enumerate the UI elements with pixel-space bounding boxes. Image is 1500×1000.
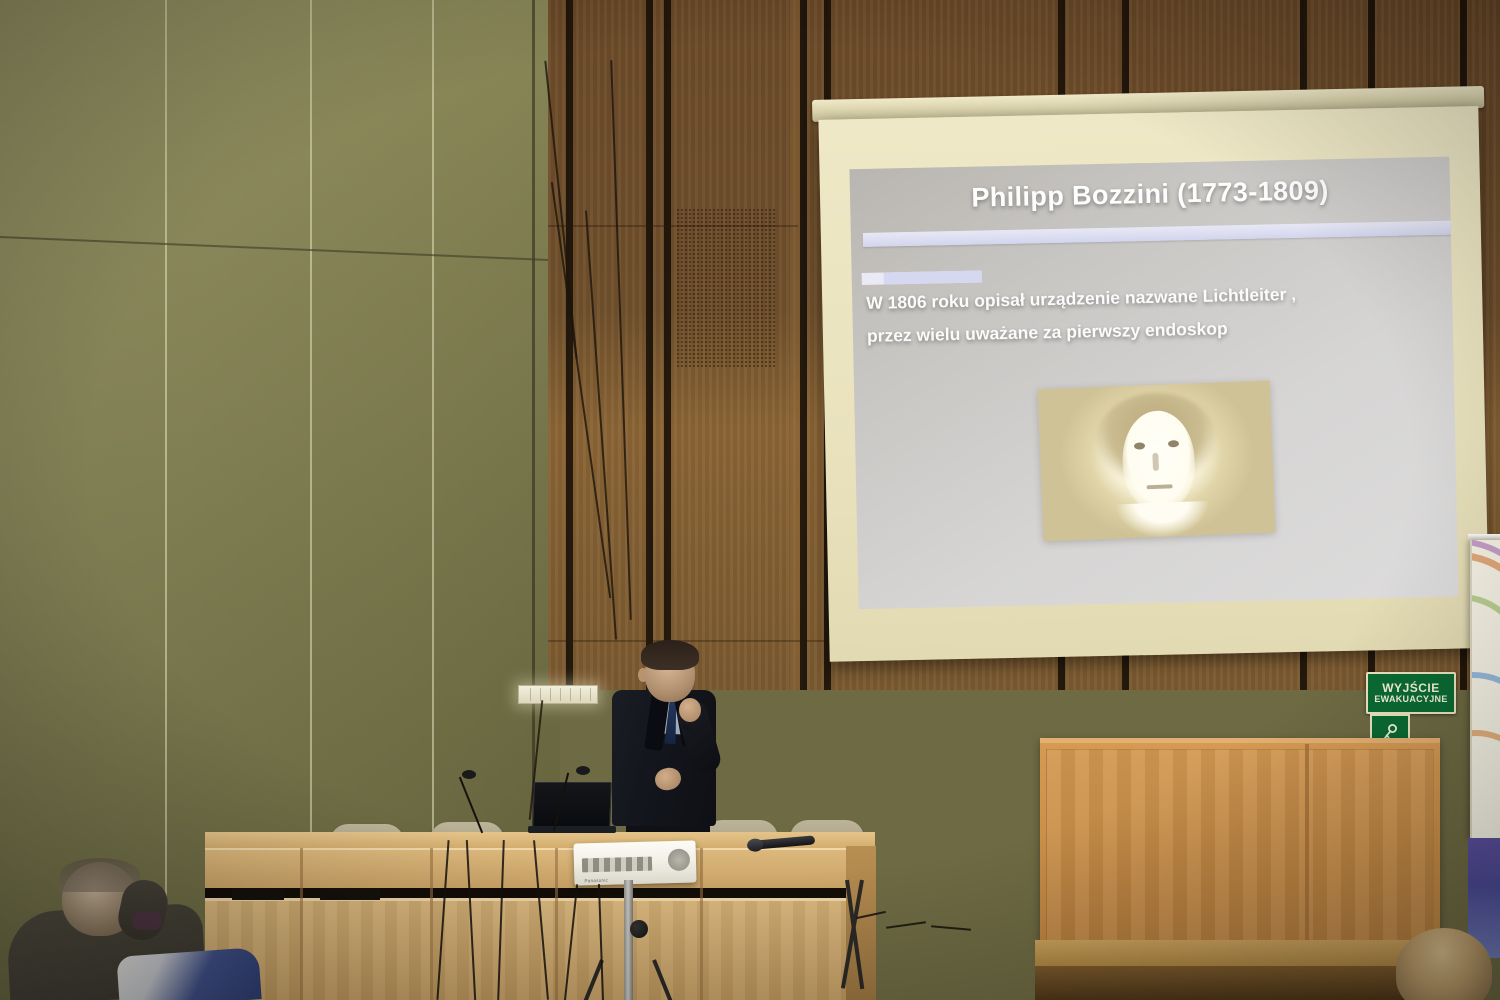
wall-groove [664, 0, 671, 690]
gooseneck-microphone-head [462, 770, 476, 779]
laptop-screen[interactable] [532, 782, 612, 830]
banner-arc [1470, 730, 1500, 840]
projector-stand-pole [624, 880, 633, 1000]
wall-groove [646, 0, 653, 690]
slide-portrait-image [1038, 380, 1276, 541]
projector: Panasonic [573, 840, 696, 885]
slide-body: W 1806 roku opisał urządzenie nazwane Li… [866, 275, 1439, 353]
slide-body-line-2: przez wielu uważane za pierwszy endoskop [867, 308, 1440, 353]
slide-title-rule [863, 221, 1453, 247]
table-panel-seam [555, 848, 558, 1000]
gooseneck-microphone-head [576, 766, 590, 775]
projector-stand-knob [630, 920, 648, 938]
table-panel-seam [430, 848, 433, 1000]
draped-coat [116, 947, 261, 1000]
wooden-podium [1040, 738, 1440, 955]
exit-sign-line-2: EWAKUACYJNE [1374, 695, 1447, 704]
podium-panel-seam [1305, 744, 1309, 944]
wall-seam [165, 0, 167, 1000]
projector-brand-label: Panasonic [584, 878, 608, 884]
presentation-slide: Philipp Bozzini (1773-1809) W 1806 roku … [849, 157, 1458, 609]
laptop-base[interactable] [528, 826, 616, 833]
table-panel-seam [300, 848, 303, 1000]
wall-groove [800, 0, 807, 690]
wall-panel-seam [790, 0, 800, 690]
table-vent [232, 888, 284, 900]
projector-lens [668, 849, 691, 872]
wall-groove [566, 0, 573, 690]
floor-cable [886, 921, 926, 929]
portrait-collar [1116, 501, 1209, 539]
slide-body-line-1: W 1806 roku opisał urządzenie nazwane Li… [866, 284, 1296, 313]
slide-sub-rule [862, 270, 982, 285]
screen-canvas: Philipp Bozzini (1773-1809) W 1806 roku … [818, 106, 1489, 662]
floor-cable [931, 925, 971, 930]
table-panel-seam [700, 848, 703, 1000]
speaker-hair [641, 640, 699, 670]
portrait-nose [1152, 453, 1159, 471]
roll-up-banner [1470, 540, 1500, 840]
projection-screen: Philipp Bozzini (1773-1809) W 1806 roku … [812, 86, 1496, 662]
wall-light-fixture [518, 685, 598, 704]
exit-sign-line-1: WYJŚCIE [1382, 682, 1440, 695]
audience-left-sleeve-cuff [132, 912, 162, 930]
acoustic-perforated-panel [676, 208, 776, 368]
emergency-exit-sign: WYJŚCIE EWAKUACYJNE [1366, 672, 1456, 714]
projector-ports [582, 857, 652, 873]
table-vent [320, 888, 380, 900]
lecture-hall-photo: Philipp Bozzini (1773-1809) W 1806 roku … [0, 0, 1500, 1000]
slide-title: Philipp Bozzini (1773-1809) [850, 173, 1451, 217]
speaker-hand [679, 698, 701, 722]
